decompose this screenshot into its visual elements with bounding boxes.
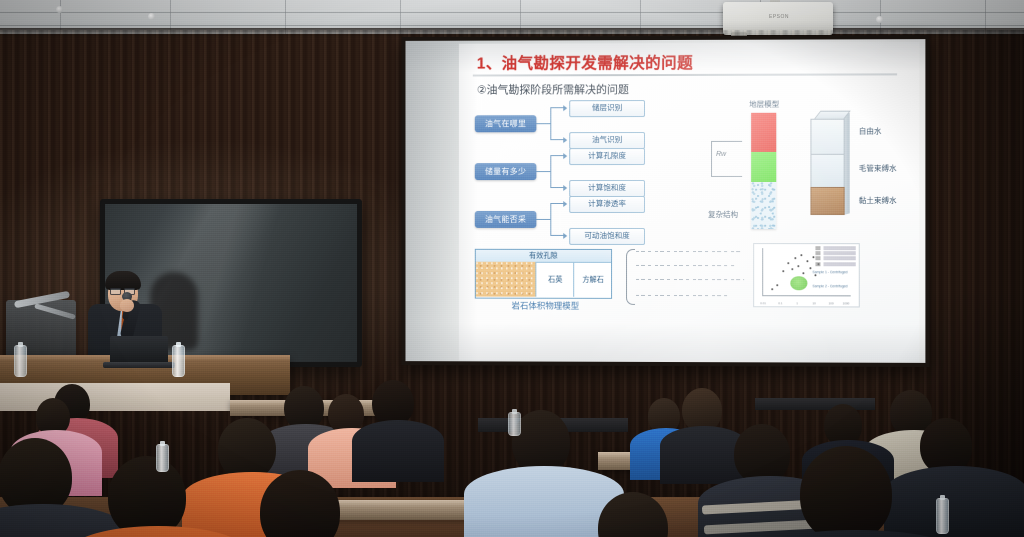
plot-y-axis: [762, 248, 763, 296]
plot-annotation-2: Sample 2 - Centrifuged: [812, 284, 847, 288]
audience-head: [734, 424, 790, 484]
strata-layer-rock: [751, 182, 776, 229]
flow-main-node: 储量有多少: [475, 163, 537, 180]
strata-bracket-label: Rw: [716, 151, 726, 158]
plot-xtick: 100: [829, 301, 834, 305]
flow-sub-node: 可动油饱和度: [569, 228, 645, 245]
flow-sub-node: 计算孔隙度: [569, 148, 645, 165]
equation-line: [636, 279, 744, 280]
rock-model-pore-cell: [476, 262, 536, 297]
strata-bottom-label: 复杂结构: [701, 209, 745, 220]
plot-xtick: 1000: [843, 301, 850, 305]
screen-surface: 1、油气勘探开发需解决的问题 ②油气勘探阶段所需解决的问题 油气在哪里 储层识别…: [405, 39, 925, 363]
block-free-water-face: [810, 119, 844, 155]
equation-block: [626, 247, 746, 305]
plot-x-axis: [762, 295, 851, 296]
slide-title-row: 1、油气勘探开发需解决的问题: [477, 50, 897, 73]
strata-layer-gas: [751, 152, 776, 182]
strata-layer-oil: [751, 113, 776, 152]
rock-model-calcite-cell: 方解石: [573, 262, 612, 297]
water-bottle[interactable]: [936, 498, 949, 534]
projection-screen: 1、油气勘探开发需解决的问题 ②油气勘探阶段所需解决的问题 油气在哪里 储层识别…: [402, 35, 930, 367]
audience-head: [800, 446, 892, 537]
plot-xtick: 0.01: [760, 301, 766, 305]
presentation-slide: 1、油气勘探开发需解决的问题 ②油气勘探阶段所需解决的问题 油气在哪里 储层识别…: [459, 42, 919, 362]
audience-head: [108, 456, 186, 537]
water-bottle[interactable]: [508, 412, 521, 436]
ceiling-fixture-icon: [148, 13, 155, 20]
strata-column: [751, 113, 776, 229]
flow-sub-node: 计算渗透率: [569, 196, 645, 213]
rock-model-quartz-cell: 石英: [535, 262, 574, 297]
water-bottle[interactable]: [156, 444, 169, 472]
plot-annotation-1: Sample 1 - Centrifuged: [812, 270, 847, 274]
laptop-base: [103, 362, 175, 368]
ceiling-fixture-icon: [876, 16, 883, 23]
equation-line: [636, 295, 728, 296]
water-bottle[interactable]: [14, 345, 27, 377]
block-capillary-water-face: [810, 154, 844, 188]
rock-volume-model: 有效孔隙 石英 方解石: [475, 249, 612, 299]
ceiling-fixture-icon: [56, 6, 63, 13]
flow-main-node: 油气在哪里: [475, 115, 537, 132]
laptop[interactable]: [110, 336, 168, 364]
title-divider: [473, 73, 897, 76]
water-bottle[interactable]: [172, 345, 185, 377]
water-label-capillary: 毛管束缚水: [859, 163, 897, 174]
equation-line: [636, 265, 734, 266]
strata-bracket: [711, 141, 742, 177]
presenter-hand: [120, 299, 134, 312]
water-block-3d: [810, 111, 848, 221]
slide-title: 1、油气勘探开发需解决的问题: [477, 50, 897, 73]
plot-xtick: 10: [812, 301, 815, 305]
audience-torso: [352, 420, 444, 482]
plot-cluster: [790, 276, 807, 290]
block-clay-water-face: [810, 187, 844, 215]
flow-sub-node: 计算饱和度: [569, 180, 645, 197]
audience-head: [218, 418, 276, 480]
plot-xtick: 0.1: [778, 301, 782, 305]
flow-main-node: 油气能否采: [475, 211, 537, 228]
plot-legend: [815, 246, 855, 267]
water-label-clay: 黏土束缚水: [859, 195, 897, 206]
equation-line: [636, 251, 740, 252]
glasses-icon: [110, 288, 135, 293]
lecture-hall-photo: EPSON 1、油气勘探开发需解决的问题 ②油气勘探阶段所需解决的问题: [0, 0, 1024, 537]
water-label-free: 自由水: [859, 126, 882, 137]
audience-desk: [755, 398, 875, 410]
audience-torso: [884, 466, 1024, 537]
flowchart: 油气在哪里 储层识别 油气识别 储量有多少: [469, 101, 688, 241]
flow-sub-node: 储层识别: [569, 100, 645, 117]
scatter-plot: Sample 1 - Centrifuged Sample 2 - Centri…: [753, 243, 860, 307]
strata-model-title: 地层模型: [739, 99, 789, 110]
slide-subtitle: ②油气勘探阶段所需解决的问题: [477, 81, 629, 97]
projector-brand-label: EPSON: [769, 14, 789, 20]
equation-brace: [626, 249, 635, 305]
front-desk-surface: [0, 383, 230, 411]
plot-xtick: 1: [796, 301, 798, 305]
flow-sub-node: 油气识别: [569, 132, 645, 149]
rock-model-caption: 岩石体积物理模型: [481, 300, 610, 312]
